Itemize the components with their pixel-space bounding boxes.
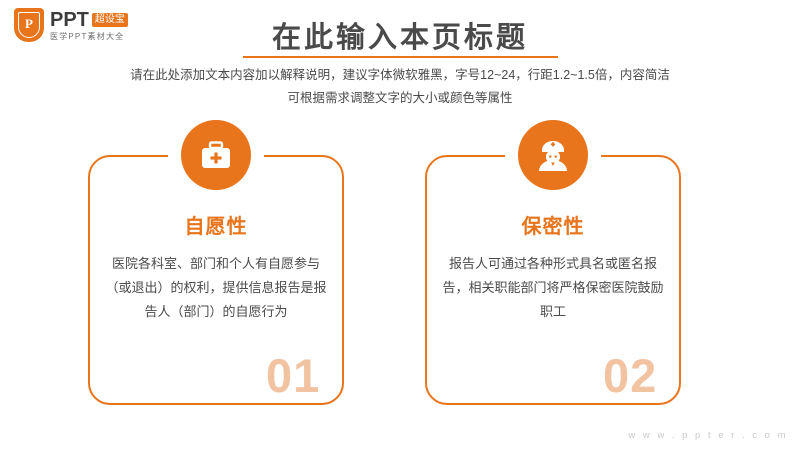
page-subtitle: 请在此处添加文本内容加以解释说明，建议字体微软雅黑，字号12~24，行距1.2~…: [0, 64, 800, 110]
page-title: 在此输入本页标题: [0, 14, 800, 56]
subtitle-line-1: 请在此处添加文本内容加以解释说明，建议字体微软雅黑，字号12~24，行距1.2~…: [0, 64, 800, 87]
card-heading-1: 自愿性: [88, 210, 344, 239]
card-body-1: 医院各科室、部门和个人有自愿参与（或退出）的权利，提供信息报告是报告人（部门）的…: [103, 252, 329, 324]
card-heading-2: 保密性: [425, 210, 681, 239]
subtitle-line-2: 可根据需求调整文字的大小或颜色等属性: [0, 87, 800, 110]
footer-watermark: w w w . p p t e r . c o m: [628, 430, 788, 441]
card-number-1: 01: [266, 352, 320, 399]
first-aid-kit-icon: [181, 120, 251, 190]
card-number-2: 02: [603, 352, 657, 399]
title-underline: [243, 56, 558, 58]
doctor-avatar-icon: [518, 120, 588, 190]
card-body-2: 报告人可通过各种形式具名或匿名报告，相关职能部门将严格保密医院鼓励职工: [440, 252, 666, 324]
